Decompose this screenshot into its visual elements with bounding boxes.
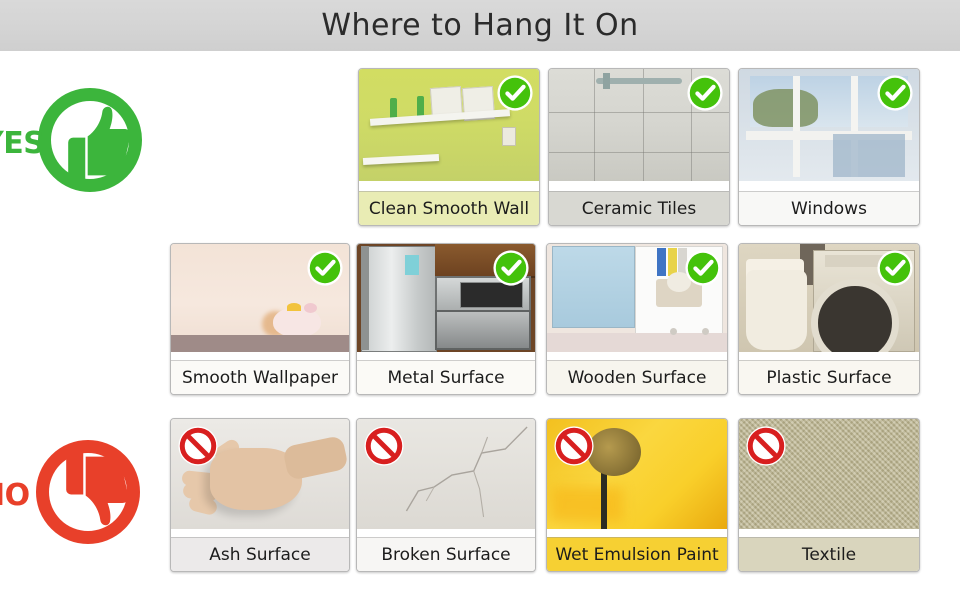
- red-prohibition-badge-icon: [177, 425, 219, 467]
- card-label: Wet Emulsion Paint: [547, 537, 727, 571]
- surface-card-smooth-wallpaper[interactable]: Smooth Wallpaper: [170, 243, 350, 395]
- green-check-badge-icon: [306, 249, 344, 287]
- card-label: Broken Surface: [357, 537, 535, 571]
- card-label: Textile: [739, 537, 919, 571]
- thumbs-up-icon: [56, 96, 134, 184]
- green-check-badge-icon: [496, 74, 534, 112]
- card-label: Smooth Wallpaper: [171, 360, 349, 394]
- verdict-label-yes: YES: [0, 126, 44, 161]
- green-check-badge-icon: [684, 249, 722, 287]
- card-label: Plastic Surface: [739, 360, 919, 394]
- card-label: Windows: [739, 191, 919, 225]
- card-label: Metal Surface: [357, 360, 535, 394]
- card-label: Ceramic Tiles: [549, 191, 729, 225]
- surface-card-clean-smooth-wall[interactable]: Clean Smooth Wall: [358, 68, 540, 226]
- card-label: Wooden Surface: [547, 360, 727, 394]
- green-check-badge-icon: [492, 249, 530, 287]
- card-label: Ash Surface: [171, 537, 349, 571]
- green-check-badge-icon: [876, 249, 914, 287]
- red-prohibition-badge-icon: [553, 425, 595, 467]
- verdict-badge-yes: YES: [0, 88, 164, 208]
- surface-card-wet-emulsion-paint[interactable]: Wet Emulsion Paint: [546, 418, 728, 572]
- surface-card-wooden-surface[interactable]: Wooden Surface: [546, 243, 728, 395]
- green-check-badge-icon: [876, 74, 914, 112]
- verdict-badge-no: NO: [0, 440, 162, 560]
- green-check-badge-icon: [686, 74, 724, 112]
- surface-card-ash-surface[interactable]: Ash Surface: [170, 418, 350, 572]
- surface-card-ceramic-tiles[interactable]: Ceramic Tiles: [548, 68, 730, 226]
- page-title: Where to Hang It On: [321, 8, 638, 43]
- page-header: Where to Hang It On: [0, 0, 960, 51]
- red-prohibition-badge-icon: [745, 425, 787, 467]
- surface-card-broken-surface[interactable]: Broken Surface: [356, 418, 536, 572]
- surface-card-windows[interactable]: Windows: [738, 68, 920, 226]
- surface-card-plastic-surface[interactable]: Plastic Surface: [738, 243, 920, 395]
- verdict-label-no: NO: [0, 478, 30, 513]
- surface-card-metal-surface[interactable]: Metal Surface: [356, 243, 536, 395]
- card-label: Clean Smooth Wall: [359, 191, 539, 225]
- red-prohibition-badge-icon: [363, 425, 405, 467]
- thumbs-down-icon: [54, 448, 132, 536]
- surface-card-textile[interactable]: Textile: [738, 418, 920, 572]
